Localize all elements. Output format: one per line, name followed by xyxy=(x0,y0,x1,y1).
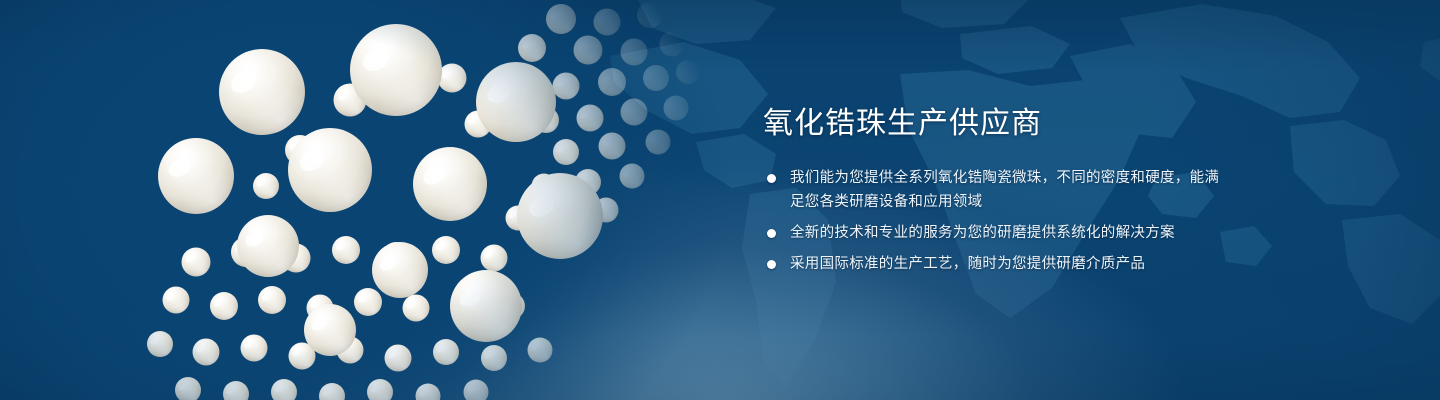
bullet-item: 全新的技术和专业的服务为您的研磨提供系统化的解决方案 xyxy=(763,221,1233,245)
banner-headline: 氧化锆珠生产供应商 xyxy=(763,104,1233,144)
bullet-dot-icon xyxy=(767,260,776,269)
bullet-item: 我们能为您提供全系列氧化锆陶瓷微珠，不同的密度和硬度，能满足您各类研磨设备和应用… xyxy=(763,166,1233,214)
zirconia-beads-photo xyxy=(0,0,760,400)
bullet-dot-icon xyxy=(767,174,776,183)
bullet-text: 我们能为您提供全系列氧化锆陶瓷微珠，不同的密度和硬度，能满足您各类研磨设备和应用… xyxy=(790,170,1219,210)
banner-copy: 氧化锆珠生产供应商 我们能为您提供全系列氧化锆陶瓷微珠，不同的密度和硬度，能满足… xyxy=(763,104,1233,276)
bullet-dot-icon xyxy=(767,229,776,238)
hero-banner: 氧化锆珠生产供应商 我们能为您提供全系列氧化锆陶瓷微珠，不同的密度和硬度，能满足… xyxy=(0,0,1440,400)
banner-bullet-list: 我们能为您提供全系列氧化锆陶瓷微珠，不同的密度和硬度，能满足您各类研磨设备和应用… xyxy=(763,166,1233,276)
bullet-item: 采用国际标准的生产工艺，随时为您提供研磨介质产品 xyxy=(763,252,1233,276)
bullet-text: 全新的技术和专业的服务为您的研磨提供系统化的解决方案 xyxy=(790,225,1175,241)
beads-illustration xyxy=(0,0,760,400)
bullet-text: 采用国际标准的生产工艺，随时为您提供研磨介质产品 xyxy=(790,256,1145,272)
